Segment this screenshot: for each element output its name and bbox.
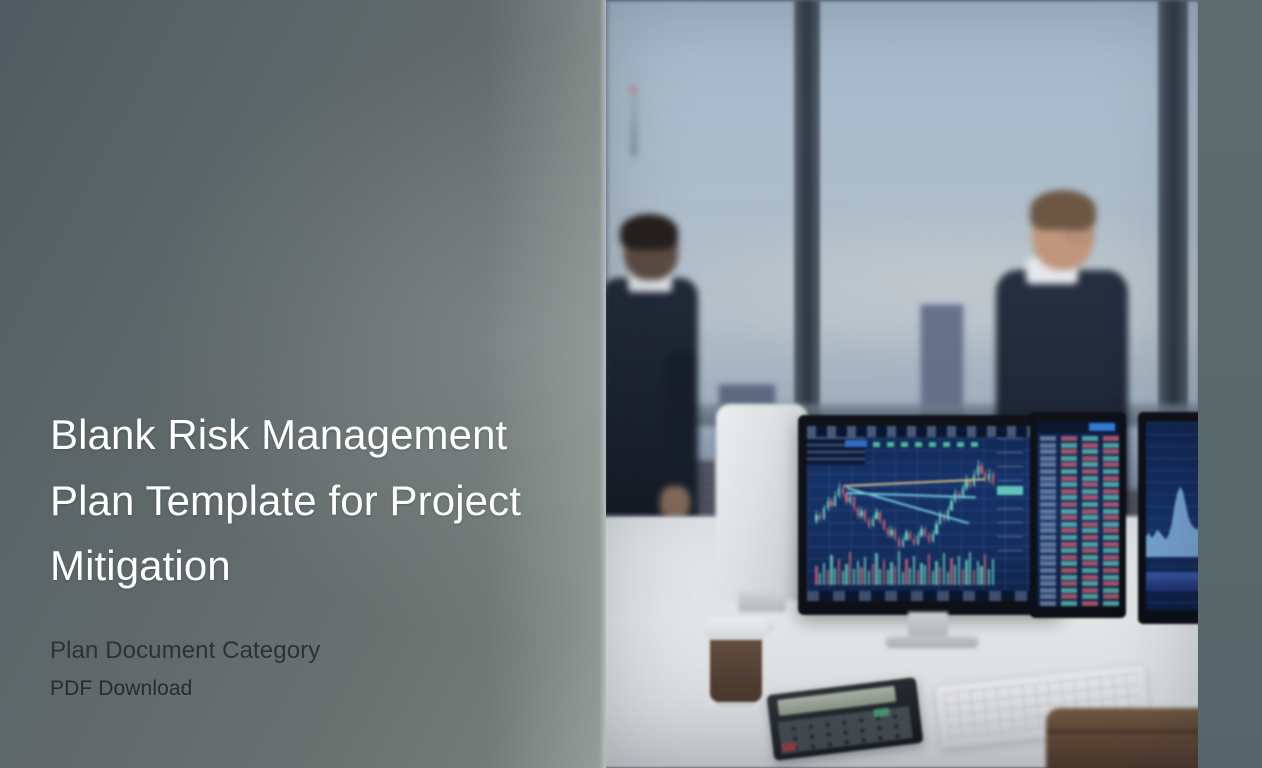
- ticker-cell: [1040, 588, 1056, 593]
- ticker-row: [1040, 456, 1116, 461]
- candle-body: [815, 515, 817, 521]
- candle-body: [890, 530, 892, 535]
- cup-sleeve: [710, 636, 762, 702]
- candle-body: [857, 508, 859, 516]
- candle-body: [935, 524, 937, 534]
- ticker-cell: [1103, 482, 1119, 487]
- cup-lid: [704, 618, 768, 640]
- volume-bar: [827, 570, 829, 585]
- ticker-cell: [1061, 581, 1077, 586]
- document-category: Plan Document Category: [50, 633, 570, 669]
- ticker-cell: [1061, 594, 1077, 599]
- volume-bar: [913, 556, 915, 585]
- candle-body: [932, 534, 934, 542]
- ticker-cell: [1040, 528, 1056, 533]
- volume-bar: [947, 572, 949, 585]
- volume-bar: [834, 568, 836, 585]
- ticker-row: [1040, 469, 1116, 474]
- ticker-cell: [1040, 449, 1056, 454]
- volume-bar: [935, 561, 937, 585]
- volume-bar: [864, 557, 866, 585]
- terminal-statusbar: [807, 591, 1053, 601]
- ticker-cell: [1061, 449, 1077, 454]
- ticker-cell: [1061, 462, 1077, 467]
- ticker-cell: [1103, 476, 1119, 481]
- wall-corner-edge: [599, 0, 606, 768]
- cover-photo: [598, 0, 1200, 768]
- ticker-cell: [1061, 555, 1077, 560]
- ticker-cell: [1103, 601, 1119, 606]
- ticker-cell: [1082, 588, 1098, 593]
- ticker-cell: [1061, 469, 1077, 474]
- ticker-cell: [1082, 528, 1098, 533]
- area-chart-svg: [1146, 475, 1200, 558]
- ticker-cell: [1103, 469, 1119, 474]
- ticker-cell: [1061, 495, 1077, 500]
- candle-body: [887, 529, 889, 535]
- candle-body: [992, 474, 994, 483]
- candle-body: [965, 480, 967, 488]
- ticker-cell: [1040, 489, 1056, 494]
- ticker-row: [1040, 502, 1116, 507]
- ticker-cell: [1082, 436, 1098, 441]
- ticker-row: [1040, 482, 1116, 487]
- ticker-cell: [1103, 502, 1119, 507]
- ticker-cell: [1061, 548, 1077, 553]
- candle-body: [920, 529, 922, 537]
- calculator-clear-key: [782, 742, 797, 752]
- ticker-cell: [1061, 482, 1077, 487]
- candle-body: [838, 488, 840, 496]
- candle-body: [917, 536, 919, 544]
- ticker-cell: [1103, 561, 1119, 566]
- volume-bar: [950, 558, 952, 585]
- candle-body: [950, 501, 952, 510]
- volume-bar: [977, 561, 979, 585]
- ticker-cell: [1061, 509, 1077, 514]
- ticker-cell: [1082, 443, 1098, 448]
- volume-bar: [928, 554, 930, 585]
- volume-bar: [980, 566, 982, 585]
- ticker-cell: [1061, 515, 1077, 520]
- ticker-row: [1040, 588, 1116, 593]
- ticker-cell: [1061, 588, 1077, 593]
- volume-bar: [917, 570, 919, 585]
- ticker-cell: [1061, 456, 1077, 461]
- volume-bar: [815, 566, 817, 585]
- volume-bar: [823, 563, 825, 585]
- ticker-cell: [1082, 601, 1098, 606]
- volume-bar: [969, 552, 971, 585]
- ticker-panel: [1030, 412, 1126, 618]
- ticker-cell: [1040, 522, 1056, 527]
- candle-body: [872, 519, 874, 527]
- ticker-cell: [1061, 528, 1077, 533]
- candle-body: [947, 510, 949, 520]
- ticker-cell: [1040, 601, 1056, 606]
- hair: [1030, 190, 1096, 230]
- candle-body: [980, 466, 982, 472]
- candle-body: [853, 497, 855, 508]
- volume-bar: [902, 572, 904, 585]
- volume-bar: [872, 564, 874, 585]
- document-format[interactable]: PDF Download: [50, 672, 570, 706]
- volume-bar: [868, 571, 870, 585]
- ticker-row: [1040, 535, 1116, 540]
- ticker-cell: [1061, 476, 1077, 481]
- volume-bar: [842, 571, 844, 585]
- candle-body: [898, 539, 900, 547]
- right-filler-panel: [1198, 0, 1262, 768]
- ticker-row: [1040, 601, 1116, 606]
- volume-bar: [965, 560, 967, 585]
- volume-bar: [932, 571, 934, 585]
- candle-body: [977, 466, 979, 475]
- ticker-cell: [1040, 561, 1056, 566]
- ticker-cell: [1103, 449, 1119, 454]
- volume-bar: [984, 554, 986, 585]
- ticker-cell: [1082, 555, 1098, 560]
- candle-body: [827, 501, 829, 509]
- candlestick-series: [815, 460, 995, 549]
- ticker-cell: [1103, 594, 1119, 599]
- ticker-row: [1040, 548, 1116, 553]
- ticker-cell: [1082, 489, 1098, 494]
- ticker-row: [1040, 575, 1116, 580]
- candle-body: [879, 512, 881, 521]
- candle-body: [969, 480, 971, 485]
- ticker-row: [1040, 515, 1116, 520]
- ticker-cell: [1040, 555, 1056, 560]
- hand: [660, 486, 690, 520]
- ticker-cell: [1082, 542, 1098, 547]
- volume-bar: [939, 567, 941, 585]
- ticker-row: [1040, 555, 1116, 560]
- ticker-cell: [1040, 548, 1056, 553]
- volume-bar: [909, 568, 911, 585]
- candle-body: [842, 488, 844, 494]
- ticker-cell: [1061, 542, 1077, 547]
- candle-body: [823, 508, 825, 518]
- terminal-highlight-tag: [845, 440, 867, 447]
- ticker-cell: [1103, 542, 1119, 547]
- ticker-cell: [1061, 522, 1077, 527]
- last-price-badge: [997, 486, 1023, 495]
- ticker-cell: [1103, 568, 1119, 573]
- ticker-cell: [1040, 469, 1056, 474]
- second-monitor-screen: [1146, 422, 1200, 610]
- ticker-row: [1040, 522, 1116, 527]
- ticker-row: [1040, 495, 1116, 500]
- volume-bar: [988, 569, 990, 585]
- ticker-row: [1040, 489, 1116, 494]
- candle-body: [875, 512, 877, 518]
- ticker-row: [1040, 462, 1116, 467]
- ticker-cell: [1040, 443, 1056, 448]
- candle-body: [902, 540, 904, 546]
- ticker-cell: [1061, 575, 1077, 580]
- spire-tip: [631, 86, 636, 94]
- ticker-row: [1040, 594, 1116, 599]
- ticker-row: [1040, 443, 1116, 448]
- hair: [620, 214, 678, 250]
- volume-bar: [849, 552, 851, 585]
- candle-body: [909, 533, 911, 539]
- volume-bar: [943, 553, 945, 585]
- glasses-icon: [1066, 230, 1094, 240]
- ticker-cell: [1082, 476, 1098, 481]
- ticker-cell: [1061, 568, 1077, 573]
- ticker-row: [1040, 561, 1116, 566]
- volume-bar: [924, 565, 926, 585]
- ticker-cell: [1040, 495, 1056, 500]
- ticker-cell: [1040, 456, 1056, 461]
- coffee-cup: [708, 618, 764, 702]
- imac-rear: [716, 404, 808, 600]
- volume-bar: [898, 551, 900, 585]
- ticker-cell: [1061, 443, 1077, 448]
- ticker-cell: [1082, 509, 1098, 514]
- volume-bar: [830, 555, 832, 585]
- candle-body: [905, 532, 907, 540]
- ticker-cell: [1040, 436, 1056, 441]
- ticker-cell: [1103, 515, 1119, 520]
- trading-monitor: [798, 415, 1062, 615]
- ticker-cell: [1103, 528, 1119, 533]
- volume-bar: [958, 556, 960, 585]
- template-cover-card: Blank Risk Management Plan Template for …: [0, 0, 1262, 768]
- volume-bar: [920, 563, 922, 585]
- ticker-cell: [1082, 535, 1098, 540]
- monitor-base: [886, 636, 978, 648]
- candle-body: [868, 520, 870, 526]
- volume-bar: [954, 565, 956, 585]
- window-mullion-left: [794, 0, 820, 430]
- ticker-cell: [1061, 489, 1077, 494]
- ticker-screen: [1037, 421, 1119, 606]
- ticker-cell: [1082, 449, 1098, 454]
- volume-bar: [845, 564, 847, 585]
- ticker-cell: [1040, 509, 1056, 514]
- imac-stand: [738, 592, 786, 612]
- ticker-cell: [1103, 581, 1119, 586]
- volume-bar: [857, 561, 859, 585]
- ticker-cell: [1103, 495, 1119, 500]
- volume-bar: [819, 573, 821, 585]
- ticker-cell: [1082, 581, 1098, 586]
- ticker-row: [1040, 568, 1116, 573]
- volume-bar: [887, 570, 889, 585]
- volume-histogram: [815, 551, 995, 585]
- volume-bar: [860, 567, 862, 585]
- ticker-cell: [1040, 568, 1056, 573]
- ticker-cell: [1082, 568, 1098, 573]
- ticker-cell: [1103, 535, 1119, 540]
- candle-body: [913, 539, 915, 544]
- ticker-cell: [1082, 575, 1098, 580]
- ticker-row: [1040, 476, 1116, 481]
- ticker-cell: [1040, 482, 1056, 487]
- ticker-cell: [1040, 535, 1056, 540]
- document-meta: Plan Document Category PDF Download: [50, 633, 570, 706]
- ticker-cell: [1040, 502, 1056, 507]
- candle-body: [924, 529, 926, 535]
- volume-bar: [883, 560, 885, 585]
- ticker-cell: [1082, 515, 1098, 520]
- volume-bar: [905, 559, 907, 585]
- volume-bar: [890, 562, 892, 585]
- candle-body: [845, 494, 847, 502]
- suit-arm: [664, 350, 698, 500]
- candle-body: [864, 511, 866, 520]
- businessman-left: [602, 218, 698, 538]
- ticker-cell: [1061, 601, 1077, 606]
- ticker-cell: [1040, 581, 1056, 586]
- volume-bar: [879, 569, 881, 585]
- ticker-cell: [1103, 489, 1119, 494]
- ticker-row: [1040, 581, 1116, 586]
- volume-bar: [875, 553, 877, 585]
- ticker-cell: [1082, 469, 1098, 474]
- candle-body: [860, 511, 862, 516]
- ticker-cell: [1082, 456, 1098, 461]
- candle-body: [894, 530, 896, 539]
- area-chart: [1146, 475, 1200, 558]
- ticker-row: [1040, 542, 1116, 547]
- candle-body: [988, 474, 990, 480]
- ticker-cell: [1103, 462, 1119, 467]
- ticker-cell: [1040, 462, 1056, 467]
- ticker-row: [1040, 436, 1116, 441]
- ticker-cell: [1040, 515, 1056, 520]
- candle-body: [928, 535, 930, 541]
- ticker-row: [1040, 449, 1116, 454]
- volume-bar: [853, 569, 855, 585]
- ticker-cell: [1061, 535, 1077, 540]
- ticker-cell: [1082, 594, 1098, 599]
- volume-bar: [973, 570, 975, 585]
- ticker-row: [1040, 528, 1116, 533]
- ticker-cell: [1082, 482, 1098, 487]
- ticker-cell: [1061, 436, 1077, 441]
- ticker-cell: [1040, 542, 1056, 547]
- chair-seam: [1046, 730, 1200, 733]
- ticker-cell: [1103, 436, 1119, 441]
- ticker-action-button: [1089, 423, 1115, 431]
- price-axis: [997, 438, 1023, 553]
- ticker-cell: [1082, 462, 1098, 467]
- ticker-cell: [1082, 502, 1098, 507]
- ticker-cell: [1103, 509, 1119, 514]
- ticker-cell: [1082, 495, 1098, 500]
- ticker-cell: [1040, 575, 1056, 580]
- cover-copy: Blank Risk Management Plan Template for …: [50, 402, 570, 706]
- window-mullion-right: [1158, 0, 1188, 420]
- ticker-cell: [1061, 561, 1077, 566]
- ticker-cell: [1103, 522, 1119, 527]
- monitor-screen: [807, 426, 1053, 601]
- ticker-cell: [1103, 443, 1119, 448]
- page-title: Blank Risk Management Plan Template for …: [50, 402, 570, 599]
- ticker-cell: [1040, 476, 1056, 481]
- ticker-cell: [1103, 575, 1119, 580]
- second-monitor: [1138, 412, 1200, 624]
- ticker-cell: [1082, 522, 1098, 527]
- ticker-cell: [1103, 548, 1119, 553]
- volume-bar: [962, 569, 964, 585]
- ticker-cell: [1061, 502, 1077, 507]
- volume-bar: [992, 559, 994, 585]
- ticker-cell: [1040, 594, 1056, 599]
- candle-body: [883, 521, 885, 529]
- leather-chair: [1046, 708, 1200, 768]
- candle-body: [834, 496, 836, 506]
- ticker-cell: [1103, 456, 1119, 461]
- candle-body: [849, 497, 851, 502]
- secondary-indicator-strip: [1146, 572, 1200, 591]
- ticker-cell: [1082, 548, 1098, 553]
- volume-bar: [838, 559, 840, 585]
- candle-body: [830, 501, 832, 506]
- ticker-row: [1040, 509, 1116, 514]
- ticker-cell: [1103, 588, 1119, 593]
- candle-body: [819, 515, 821, 519]
- terminal-toolbar: [807, 426, 1053, 437]
- terminal-status-line: [873, 442, 983, 447]
- volume-bar: [894, 566, 896, 585]
- ticker-cell: [1103, 555, 1119, 560]
- ticker-cell: [1082, 561, 1098, 566]
